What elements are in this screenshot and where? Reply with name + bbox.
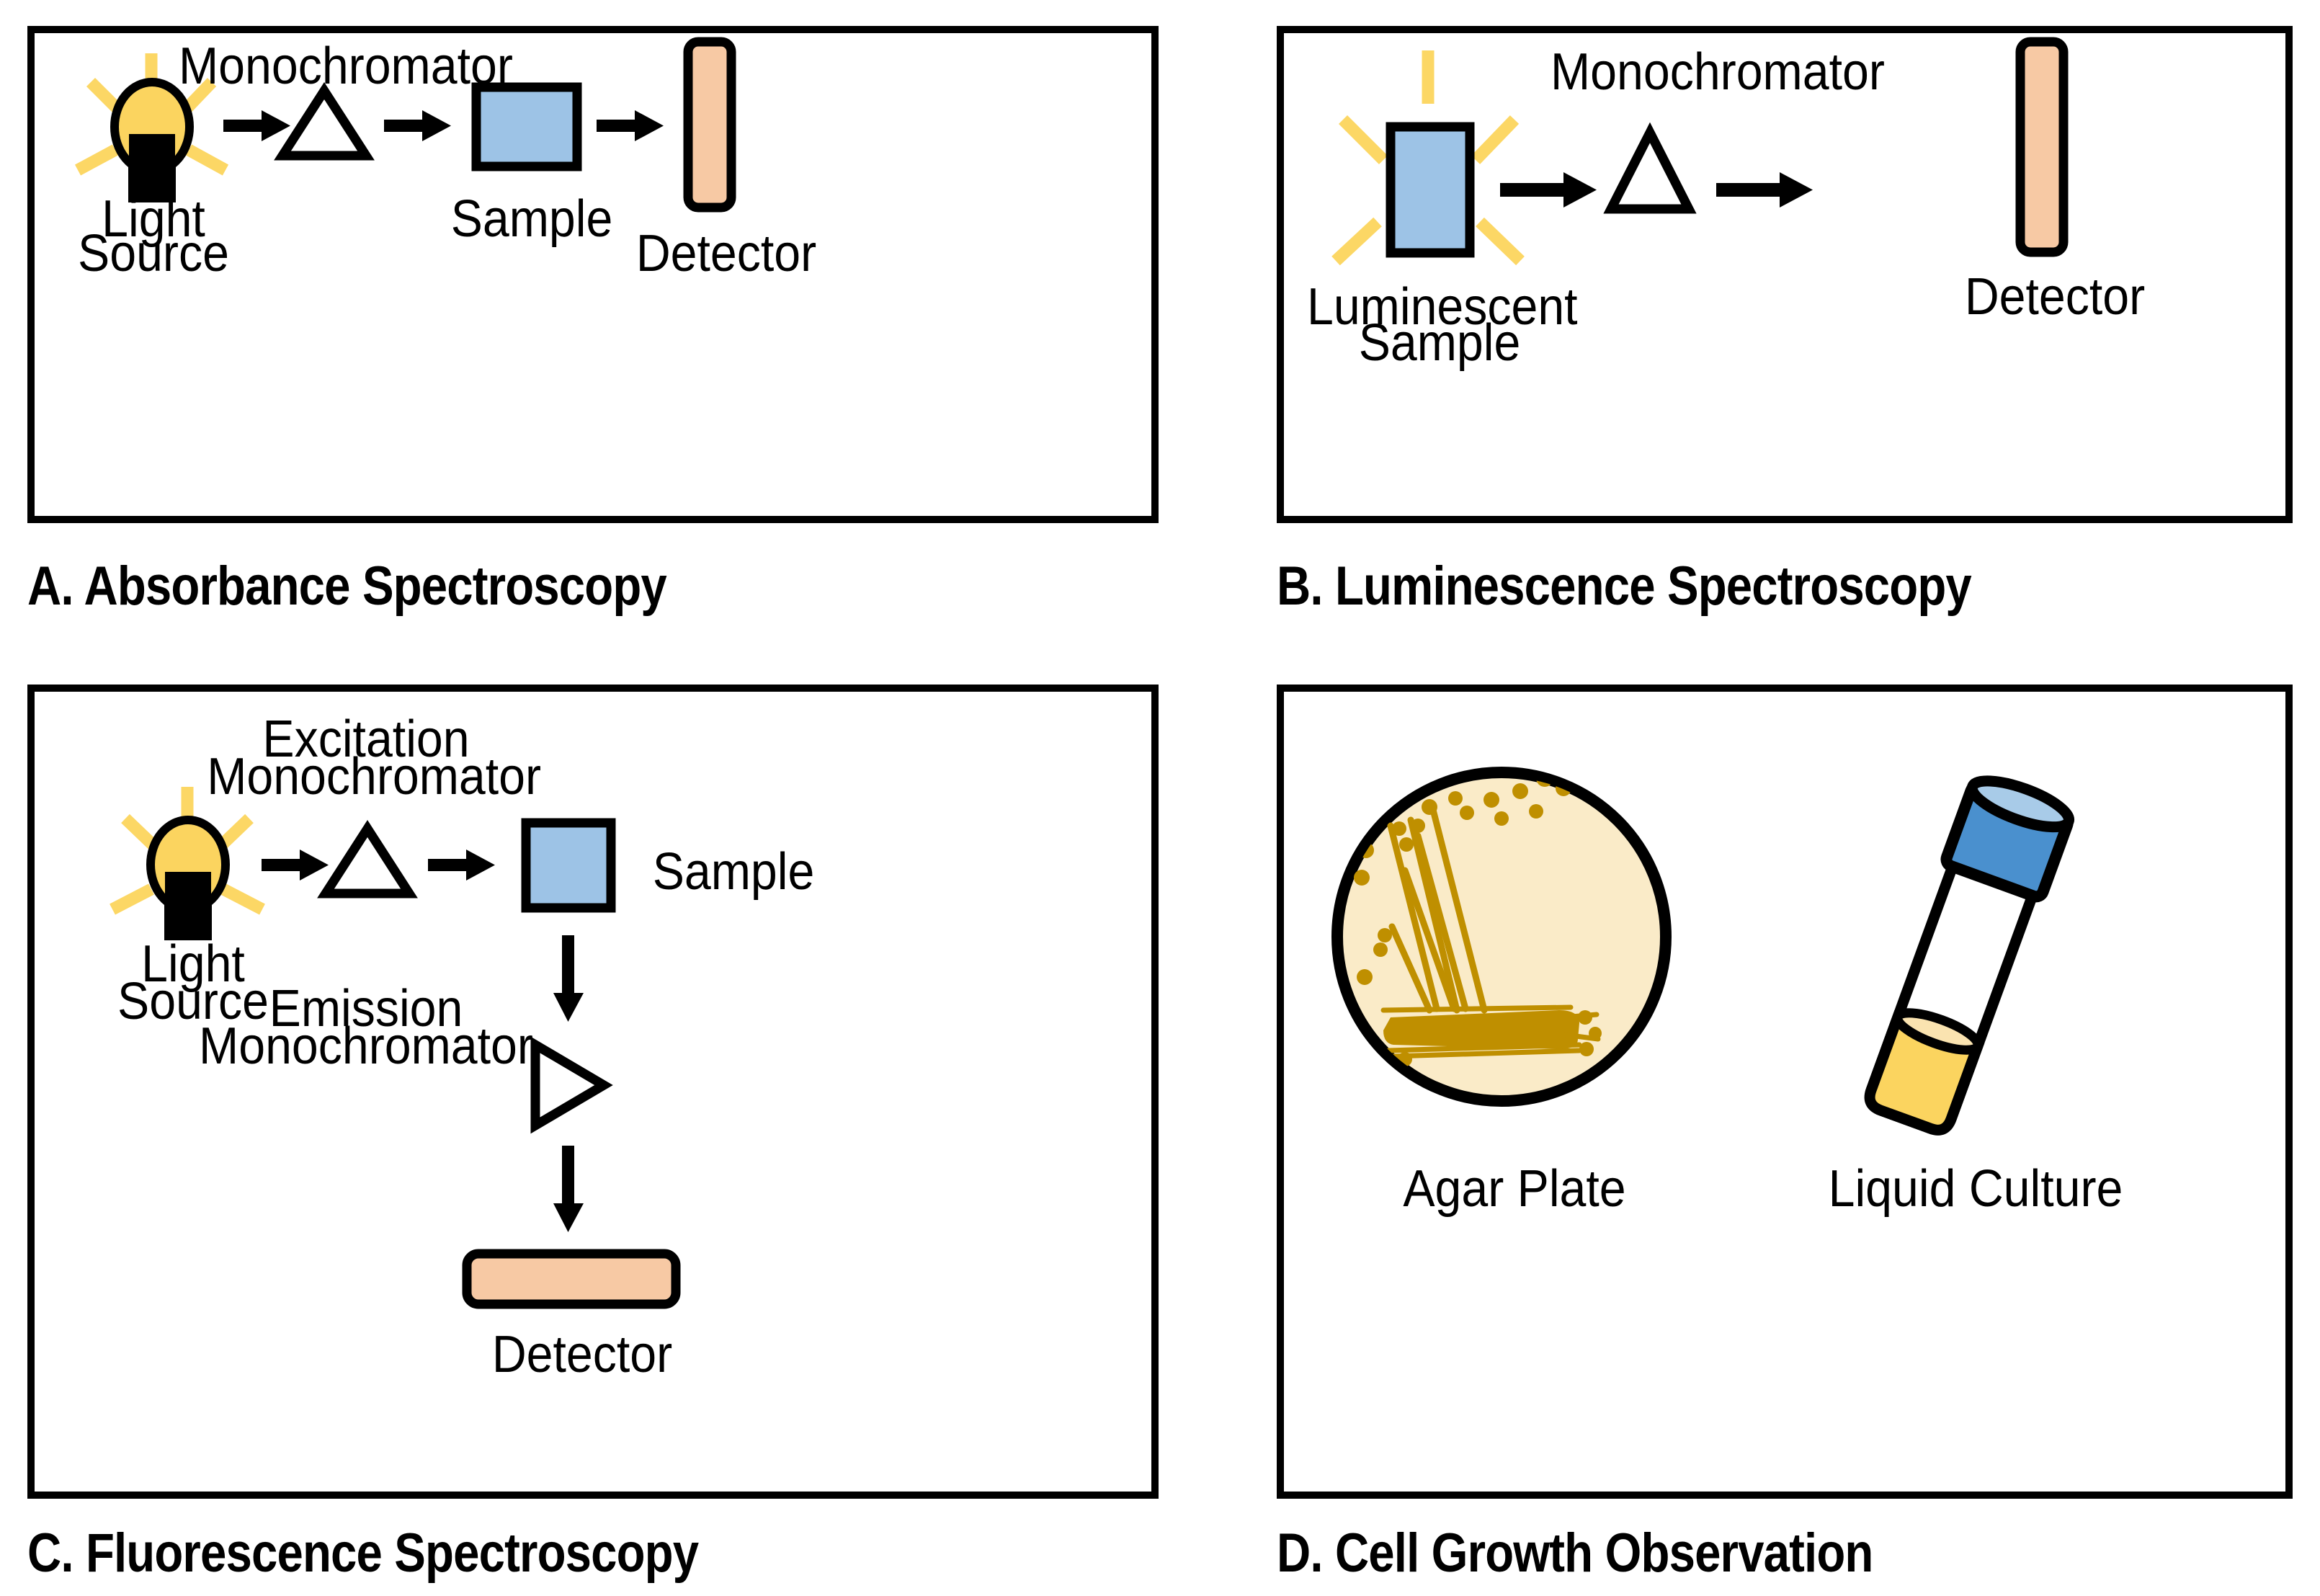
excitation-monochromator-prism-icon	[326, 829, 409, 893]
detector-bar-icon	[467, 1254, 676, 1304]
caption-panel-b: B. Luminescence Spectroscopy	[1277, 555, 1971, 618]
arrow-sample-to-prism-icon	[1500, 172, 1597, 208]
label-sample-a: Sample	[432, 190, 631, 249]
arrow-source-to-excitation-icon	[262, 850, 329, 881]
arrow-prism-to-detector-icon	[1716, 172, 1813, 208]
luminescent-sample-cuvette-icon	[1391, 127, 1470, 253]
label-monochromator-b: Monochromator	[1551, 43, 1882, 102]
panel-a-absorbance: Monochromator Light Source Sample Detect…	[27, 26, 1159, 523]
test-tube-icon	[1857, 772, 2074, 1137]
panel-d-diagram	[1277, 685, 2293, 1499]
label-light-source-a-line2: Source	[61, 225, 246, 283]
label-monochromator-a: Monochromator	[179, 37, 510, 96]
panel-b-luminescence: Monochromator Luminescent Sample Detecto…	[1277, 26, 2293, 523]
detector-bar-icon	[2020, 42, 2064, 252]
label-emission-monochromator-line2: Monochromator	[167, 1017, 565, 1076]
label-detector-c: Detector	[470, 1326, 695, 1384]
label-detector-a: Detector	[614, 225, 839, 283]
monochromator-prism-icon	[282, 91, 366, 156]
caption-panel-a: A. Absorbance Spectroscopy	[27, 555, 666, 618]
sample-cuvette-icon	[526, 823, 611, 908]
arrow-prism-to-sample-icon	[384, 110, 451, 141]
caption-panel-c: C. Fluorescence Spectroscopy	[27, 1522, 698, 1584]
monochromator-prism-icon	[1611, 133, 1689, 209]
label-liquid-culture: Liquid Culture	[1803, 1160, 2148, 1218]
label-agar-plate: Agar Plate	[1382, 1160, 1647, 1218]
label-excitation-monochromator-line2: Monochromator	[207, 748, 525, 806]
arrow-excitation-to-sample-icon	[428, 850, 495, 881]
label-sample-c: Sample	[634, 843, 833, 901]
arrow-sample-to-detector-icon	[597, 110, 664, 141]
caption-panel-d: D. Cell Growth Observation	[1277, 1522, 1873, 1584]
label-detector-b: Detector	[1942, 268, 2168, 326]
label-luminescent-sample-line2: Sample	[1307, 314, 1572, 373]
arrow-source-to-prism-icon	[223, 110, 290, 141]
panel-d-cell-growth: Agar Plate Liquid Culture	[1277, 685, 2293, 1499]
arrow-emission-to-detector-icon	[553, 1146, 584, 1232]
arrow-sample-to-emission-icon	[553, 935, 584, 1022]
panel-c-fluorescence: Excitation Monochromator Light Source Sa…	[27, 685, 1159, 1499]
sample-cuvette-icon	[476, 87, 577, 166]
detector-bar-icon	[688, 42, 731, 208]
